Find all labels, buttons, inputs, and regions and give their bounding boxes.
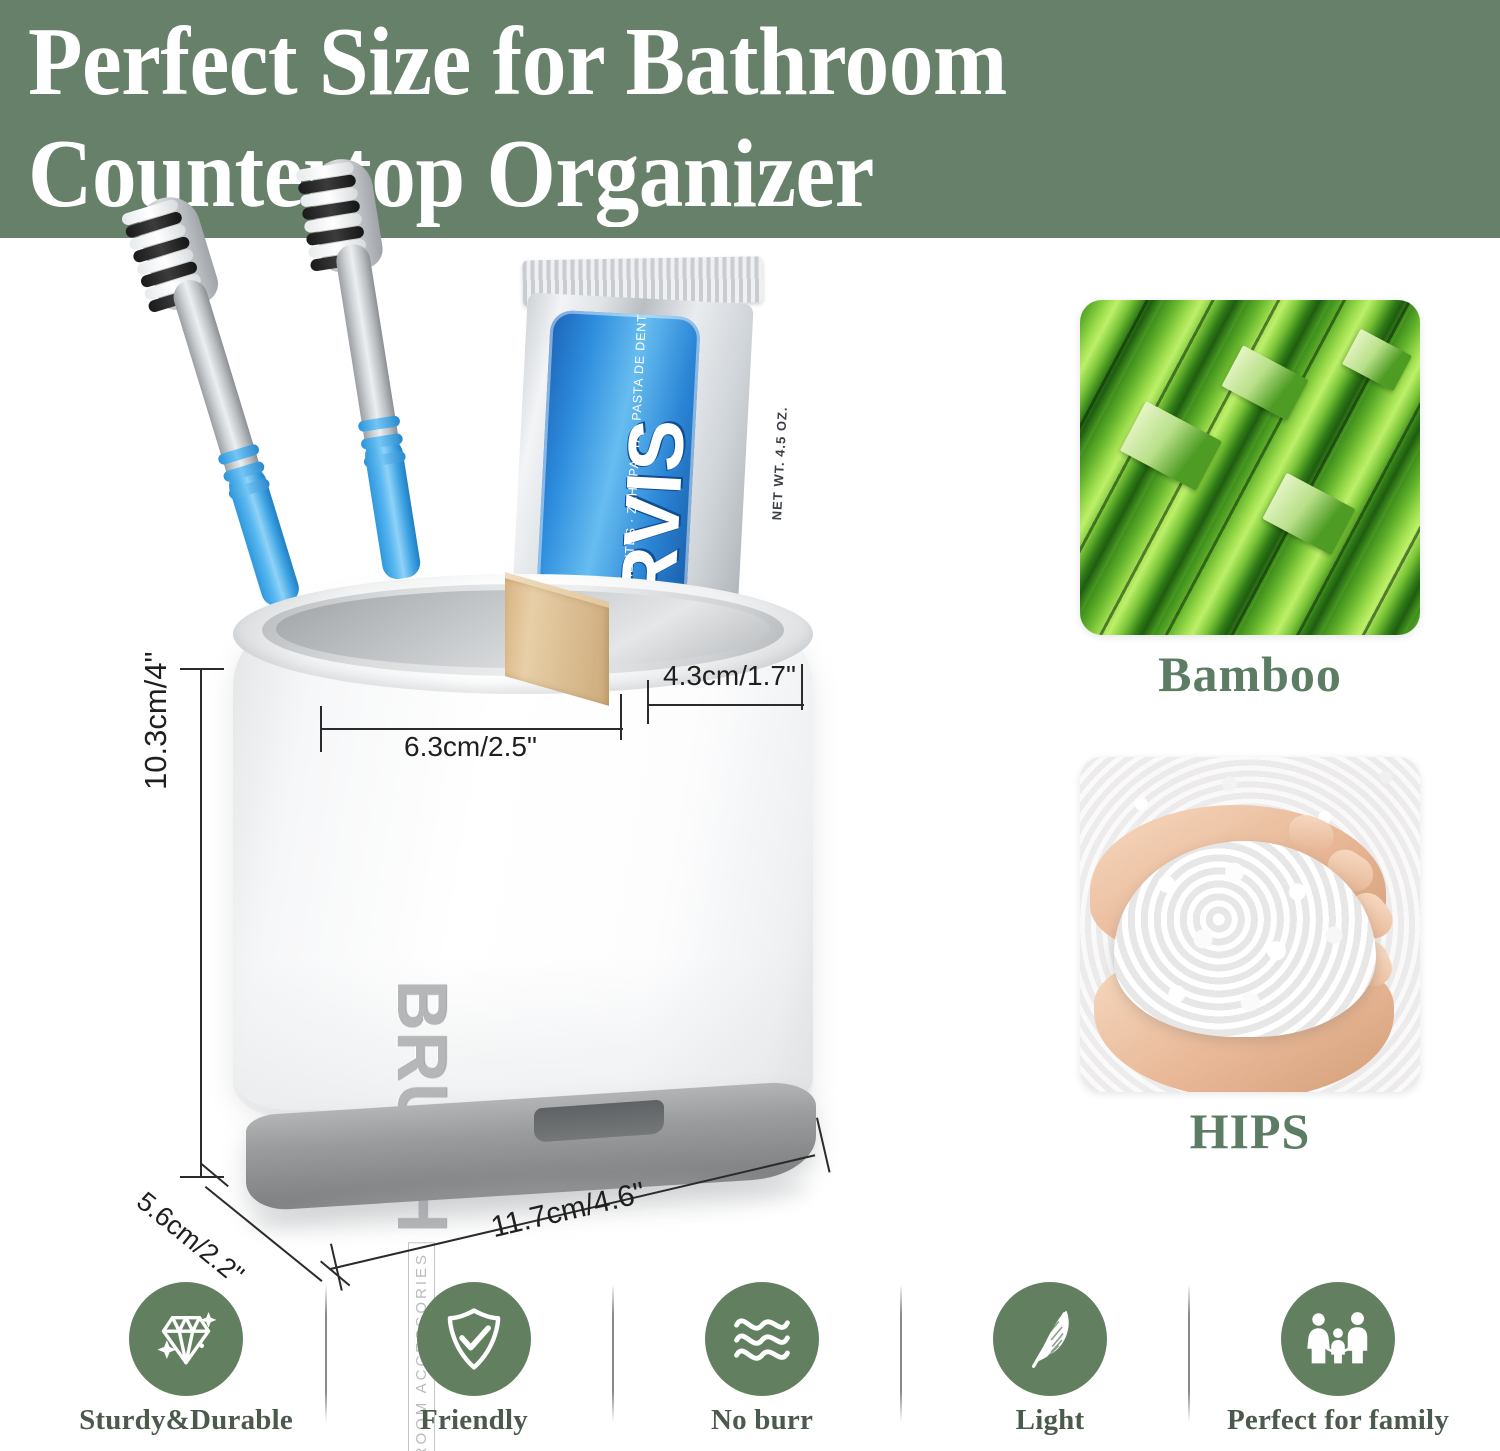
dimension-label-rear-width: 4.3cm/1.7" [663,660,796,692]
feature-label: Light [1016,1404,1085,1437]
material-card-hips: HIPS [1080,757,1420,1160]
family-icon [1300,1301,1376,1377]
feature-strip: Sturdy&Durable Friendly [0,1278,1500,1451]
feature-icon-circle [705,1282,819,1396]
wave-lines-icon [725,1302,799,1376]
feather-icon [1015,1304,1085,1374]
material-label-bamboo: Bamboo [1080,645,1420,703]
toothbrush-left [169,276,301,611]
feature-no-burr[interactable]: No burr [612,1278,912,1451]
tube-net-weight-text: NET WT. 4.5 OZ. [763,293,796,633]
diamond-icon [150,1303,222,1375]
dimension-tick [801,664,803,710]
dimension-label-front-width: 6.3cm/2.5" [404,731,537,763]
feature-perfect-for-family[interactable]: Perfect for family [1188,1278,1488,1451]
hips-photo-fill [1080,757,1420,1092]
dimension-tick [620,694,622,740]
bamboo-image [1080,300,1420,635]
feature-label: Friendly [420,1404,528,1437]
dimension-tick [647,680,649,724]
page-title: Perfect Size for Bathroom Countertop Org… [28,6,1371,230]
dimension-label-height: 10.3cm/4" [138,651,174,790]
feature-icon-circle [993,1282,1107,1396]
feature-icon-circle [417,1282,531,1396]
feature-friendly[interactable]: Friendly [324,1278,624,1451]
dimension-line-height [200,668,202,1178]
feature-icon-circle [1281,1282,1395,1396]
dimension-tick [180,668,224,670]
feature-light[interactable]: Light [900,1278,1200,1451]
shield-check-icon [439,1304,509,1374]
dimension-line-rear-width [647,704,804,706]
feature-sturdy-durable[interactable]: Sturdy&Durable [36,1278,336,1451]
feature-label: No burr [711,1404,813,1437]
header-banner: Perfect Size for Bathroom Countertop Org… [0,0,1500,238]
feature-icon-circle [129,1282,243,1396]
feature-label: Sturdy&Durable [79,1404,293,1437]
material-card-bamboo: Bamboo [1080,300,1420,703]
dimension-tick [320,706,322,752]
material-label-hips: HIPS [1080,1102,1420,1160]
infographic-page: Perfect Size for Bathroom Countertop Org… [0,0,1500,1451]
feature-label: Perfect for family [1227,1404,1449,1437]
toothbrush-right [334,242,424,603]
hips-image [1080,757,1420,1092]
